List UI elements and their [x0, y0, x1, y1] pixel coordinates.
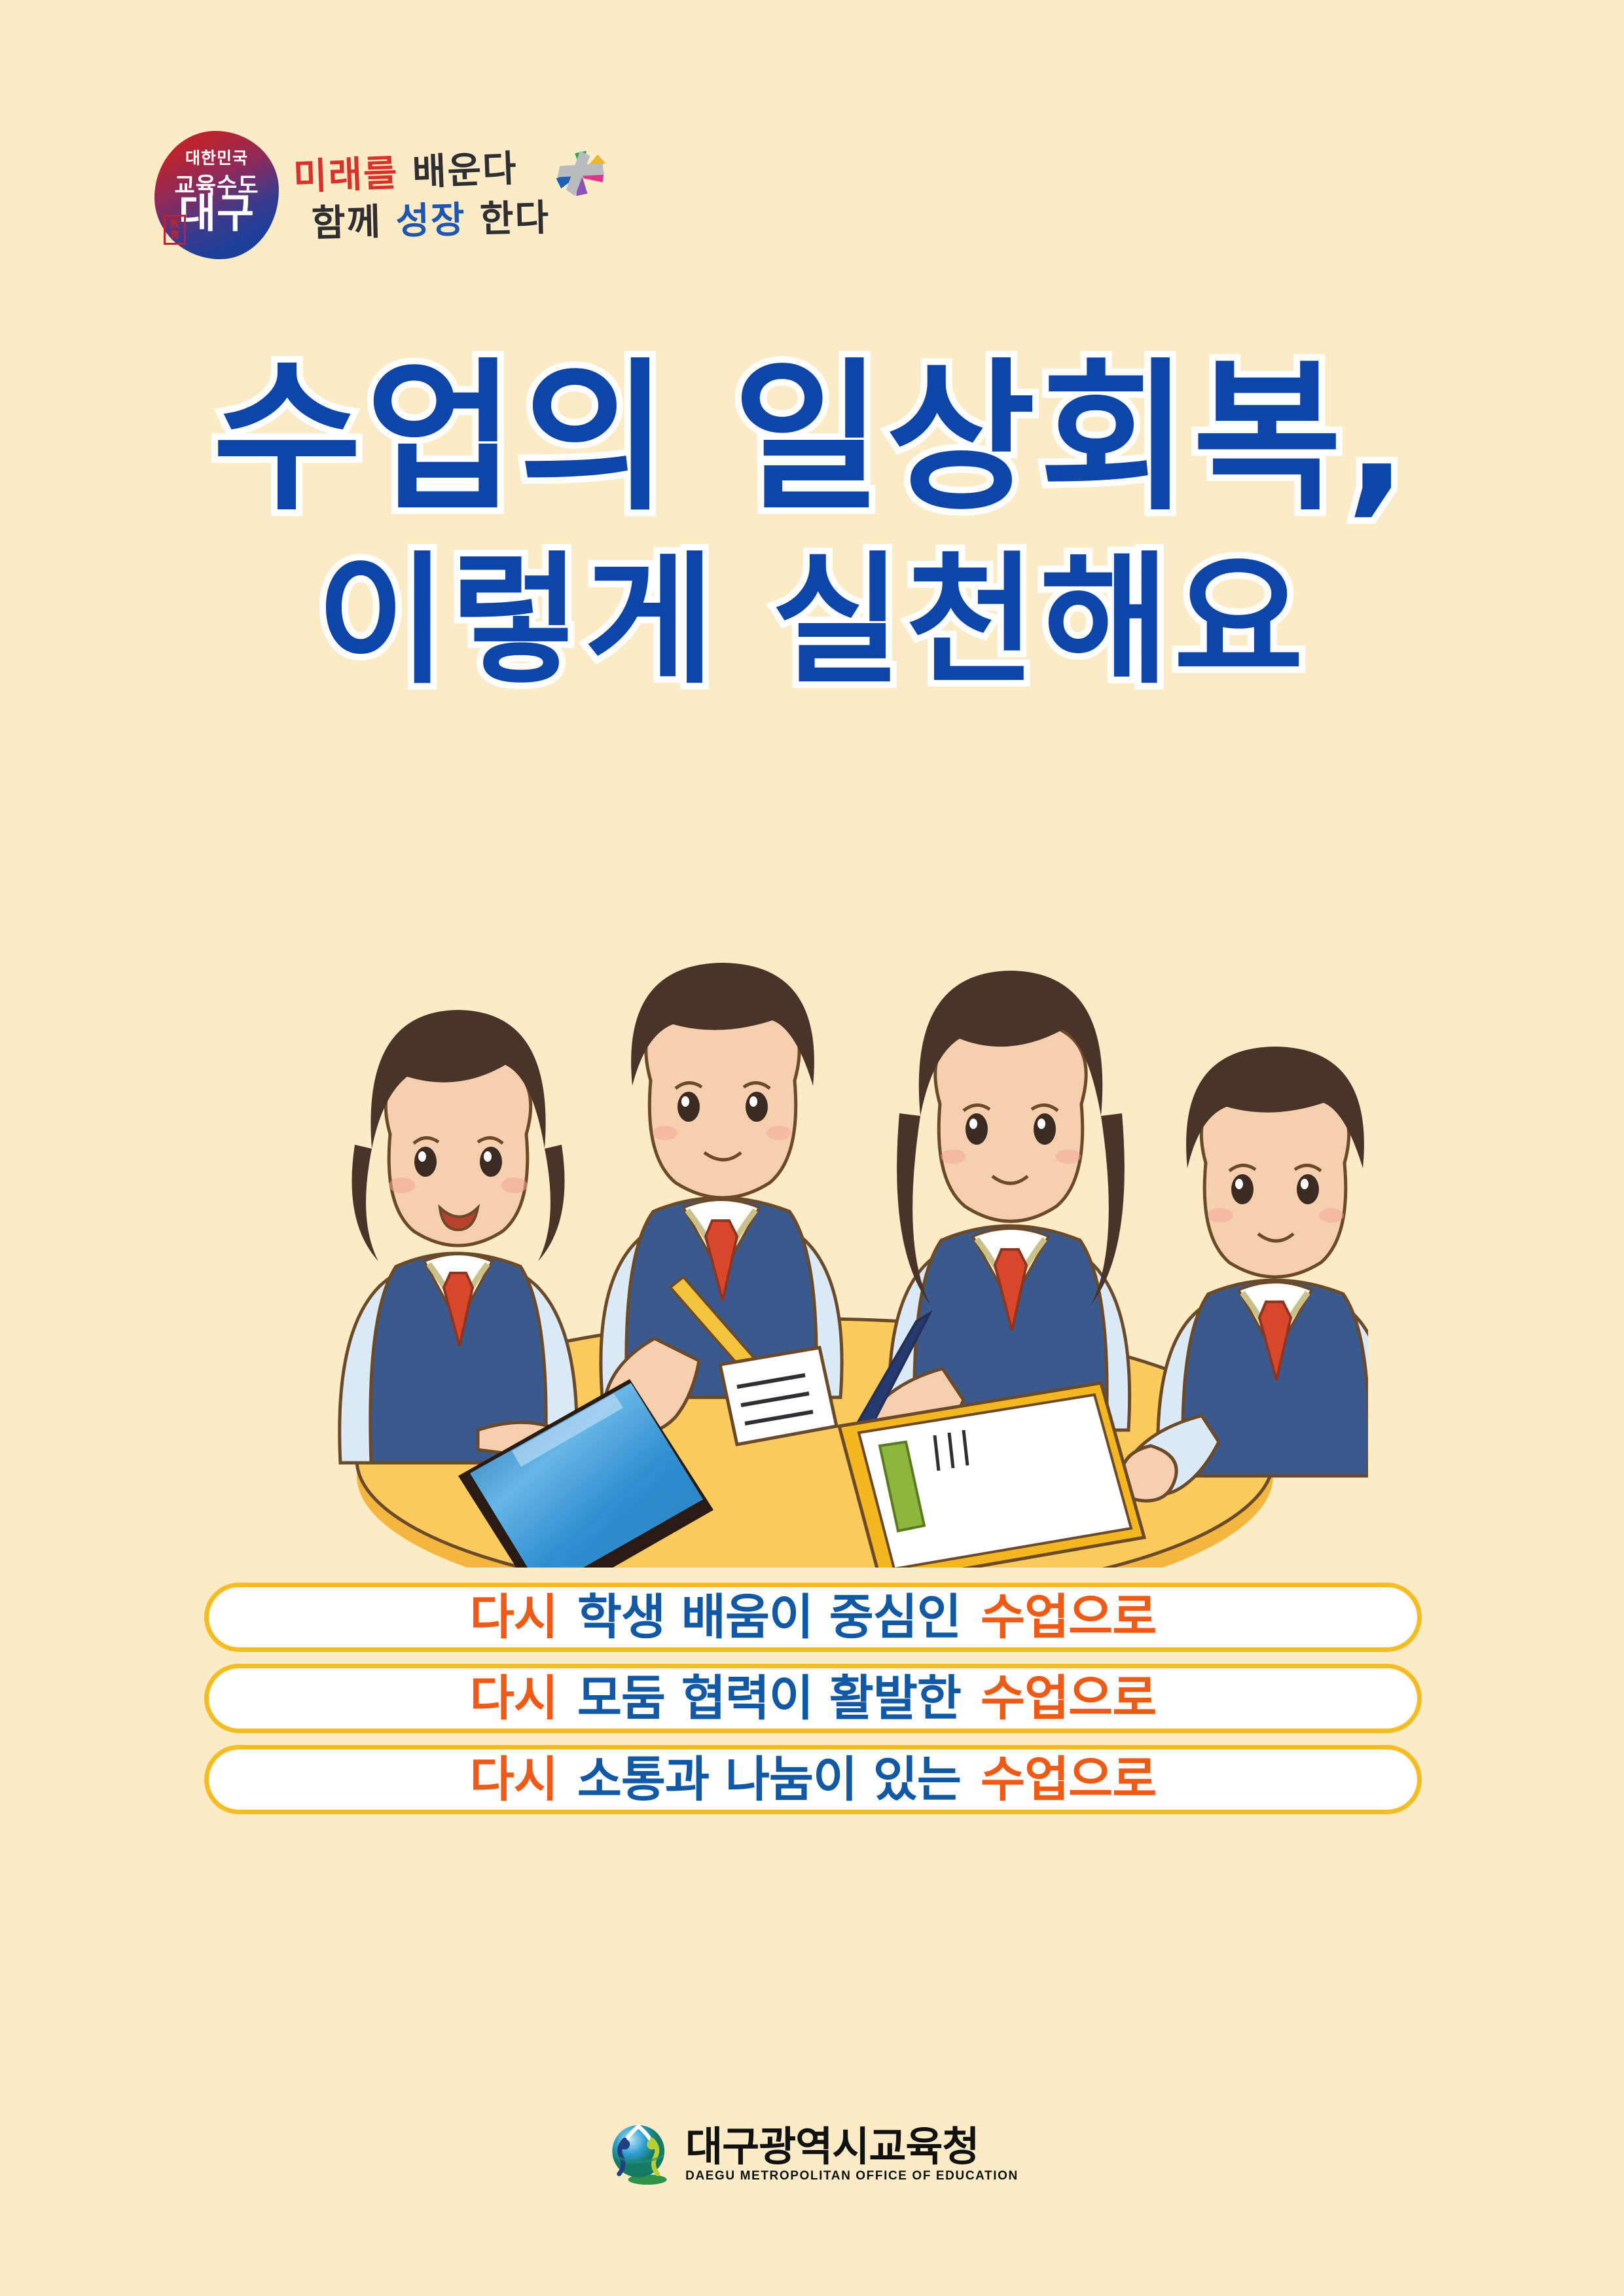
header-branding: 대한민국 교육수도 대구 教育 미래를 배운다 함께 성장 한다: [154, 131, 550, 259]
banner-3-suffix: 수업으로: [981, 1755, 1156, 1804]
practice-banner-1[interactable]: 다시 학생 배움이 중심인 수업으로: [204, 1583, 1422, 1652]
daegu-education-seal: 대한민국 교육수도 대구 教育: [154, 131, 279, 259]
poster-canvas: 대한민국 교육수도 대구 教育 미래를 배운다 함께 성장 한다: [0, 0, 1624, 2296]
pinwheel-icon: [550, 142, 613, 205]
paper-notes: [720, 1348, 837, 1444]
banner-3-prefix: 다시: [470, 1755, 558, 1804]
banner-1-suffix: 수업으로: [981, 1593, 1156, 1641]
tagline-word-mirae: 미래를: [293, 152, 399, 198]
banner-3-middle: 소통과 나눔이 있는: [577, 1755, 961, 1804]
poster-title: 수업의 일상회복, 이렇게 실천해요: [0, 340, 1624, 706]
students-illustration: [262, 821, 1368, 1568]
title-line-1: 수업의 일상회복,: [0, 340, 1624, 537]
practice-banner-2[interactable]: 다시 모둠 협력이 활발한 수업으로: [204, 1664, 1422, 1733]
title-line-2: 이렇게 실천해요: [0, 537, 1624, 706]
footer-name-korean: 대구광역시교육청: [685, 2126, 1019, 2168]
tagline-line-2: 함께 성장 한다: [311, 194, 550, 249]
globe-people-icon: [605, 2121, 674, 2189]
brand-tagline: 미래를 배운다 함께 성장 한다: [293, 145, 550, 245]
seal-line-nation: 대한민국: [154, 145, 279, 169]
footer-organization: 대구광역시교육청 DAEGU METROPOLITAN OFFICE OF ED…: [0, 2121, 1624, 2189]
tagline-line-1: 미래를 배운다: [293, 144, 551, 202]
student-1: [340, 1010, 577, 1463]
tagline-word-handa: 한다: [479, 197, 550, 242]
footer-name-english: DAEGU METROPOLITAN OFFICE OF EDUCATION: [685, 2169, 1019, 2183]
practice-banner-3[interactable]: 다시 소통과 나눔이 있는 수업으로: [204, 1745, 1422, 1814]
practice-banner-list: 다시 학생 배움이 중심인 수업으로 다시 모둠 협력이 활발한 수업으로 다시…: [204, 1583, 1422, 1826]
banner-1-middle: 학생 배움이 중심인: [577, 1593, 961, 1641]
tagline-word-seongjang: 성장: [395, 199, 467, 243]
banner-2-prefix: 다시: [470, 1674, 558, 1723]
student-4: [1121, 1047, 1368, 1501]
banner-2-suffix: 수업으로: [981, 1674, 1156, 1723]
banner-1-prefix: 다시: [470, 1593, 558, 1641]
seal-stamp-icon: 教育: [164, 215, 186, 245]
banner-2-middle: 모둠 협력이 활발한: [577, 1674, 961, 1723]
tagline-word-baeunda: 배운다: [412, 147, 518, 194]
tagline-word-hamkke: 함께: [311, 201, 382, 245]
